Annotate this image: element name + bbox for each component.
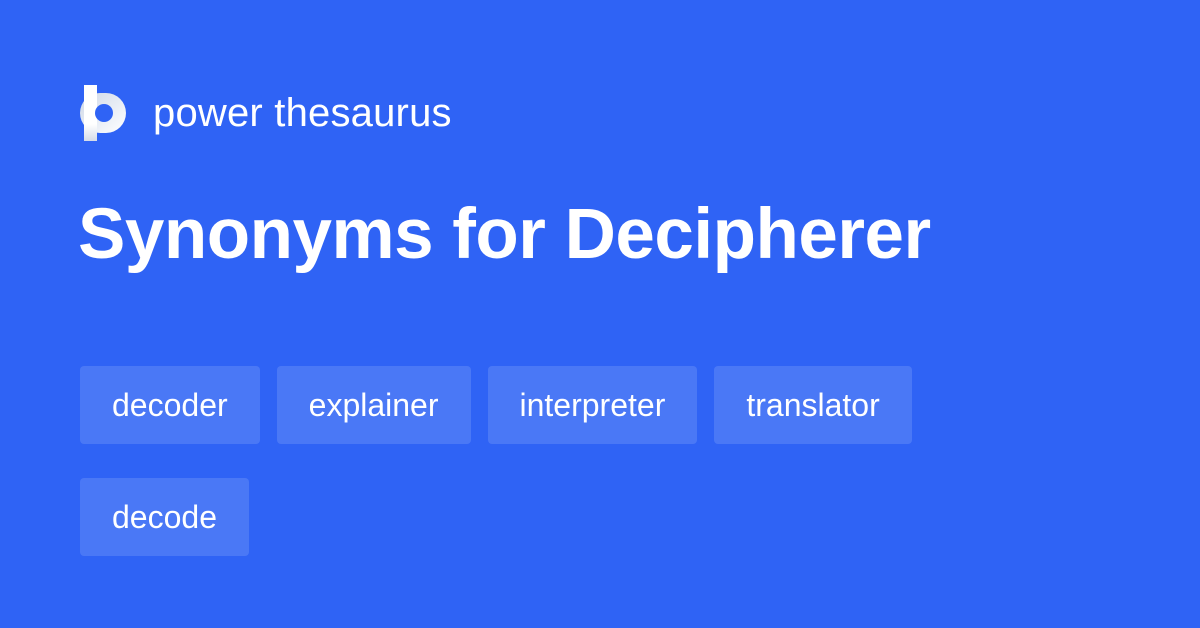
synonym-chip[interactable]: decode (80, 478, 249, 556)
synonym-chip[interactable]: interpreter (488, 366, 698, 444)
synonym-chip[interactable]: explainer (277, 366, 471, 444)
synonym-chip-list: decoder explainer interpreter translator… (80, 366, 1120, 556)
brand-name: power thesaurus (153, 93, 452, 133)
synonym-chip[interactable]: translator (714, 366, 911, 444)
share-card: power thesaurus Synonyms for Decipherer … (0, 0, 1200, 628)
synonym-chip[interactable]: decoder (80, 366, 260, 444)
page-title: Synonyms for Decipherer (78, 198, 931, 273)
brand-logo[interactable]: power thesaurus (78, 82, 452, 144)
power-thesaurus-b-logo-icon (78, 85, 126, 141)
